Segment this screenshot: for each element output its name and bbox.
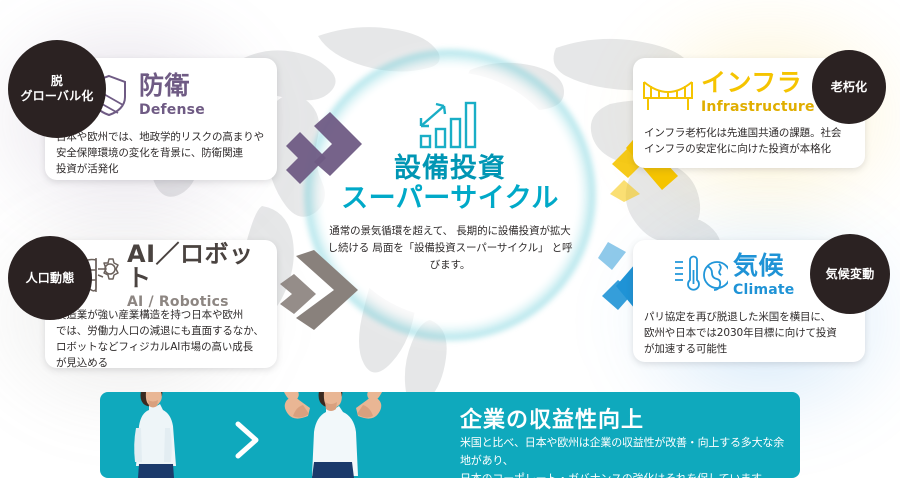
center-title-line2: スーパーサイクル bbox=[341, 184, 559, 214]
card-climate-body: パリ協定を再び脱退した米国を横目に、 欧州や日本では2030年目標に向けて投資 … bbox=[633, 302, 865, 358]
thermometer-globe-icon bbox=[674, 254, 728, 296]
card-defense-title-ja: 防衛 bbox=[139, 73, 205, 98]
card-infrastructure-body: インフラ老朽化は先進国共通の課題。社会 インフラの安定化に向けた投資が本格化 bbox=[633, 118, 865, 158]
person-thin-icon bbox=[118, 392, 218, 478]
card-ai-title-ja: AI／ロボット bbox=[127, 242, 277, 290]
banner-body: 米国と比べ、日本や欧州は企業の収益性が改善・向上する多大な余地があり、 日本のコ… bbox=[460, 434, 790, 478]
badge-deglobalization[interactable]: 脱 グローバル化 bbox=[8, 40, 106, 138]
chevron-right-icon bbox=[230, 420, 264, 460]
banner-title: 企業の収益性向上 bbox=[460, 402, 644, 434]
badge-aging[interactable]: 老朽化 bbox=[812, 50, 886, 124]
card-defense-title-en: Defense bbox=[139, 103, 205, 117]
bridge-icon bbox=[642, 72, 694, 112]
card-infrastructure-title-en: Infrastructure bbox=[701, 100, 815, 114]
badge-demographics[interactable]: 人口動態 bbox=[8, 236, 92, 320]
center-title-line1: 設備投資 bbox=[394, 154, 506, 184]
infographic-canvas: 設備投資 スーパーサイクル 通常の景気循環を超えて、 長期的に設備投資が拡大し続… bbox=[0, 0, 900, 481]
person-strong-icon bbox=[268, 392, 398, 478]
bar-chart-growth-icon bbox=[418, 96, 482, 150]
card-ai-title-en: AI / Robotics bbox=[127, 295, 277, 309]
card-climate-title-ja: 気候 bbox=[733, 253, 795, 278]
card-climate-title-en: Climate bbox=[733, 283, 795, 297]
card-infrastructure-title-ja: インフラ bbox=[701, 70, 815, 95]
badge-climate-change[interactable]: 気候変動 bbox=[810, 234, 890, 314]
center-circle: 設備投資 スーパーサイクル 通常の景気循環を超えて、 長期的に設備投資が拡大し続… bbox=[327, 72, 573, 318]
bottom-banner[interactable]: 企業の収益性向上 米国と比べ、日本や欧州は企業の収益性が改善・向上する多大な余地… bbox=[100, 392, 800, 478]
card-ai-body: 製造業が強い産業構造を持つ日本や欧州 では、労働力人口の減退にも直面するなか、 … bbox=[45, 302, 277, 372]
center-description: 通常の景気循環を超えて、 長期的に設備投資が拡大し続ける 局面を「設備投資スーパ… bbox=[327, 223, 573, 273]
